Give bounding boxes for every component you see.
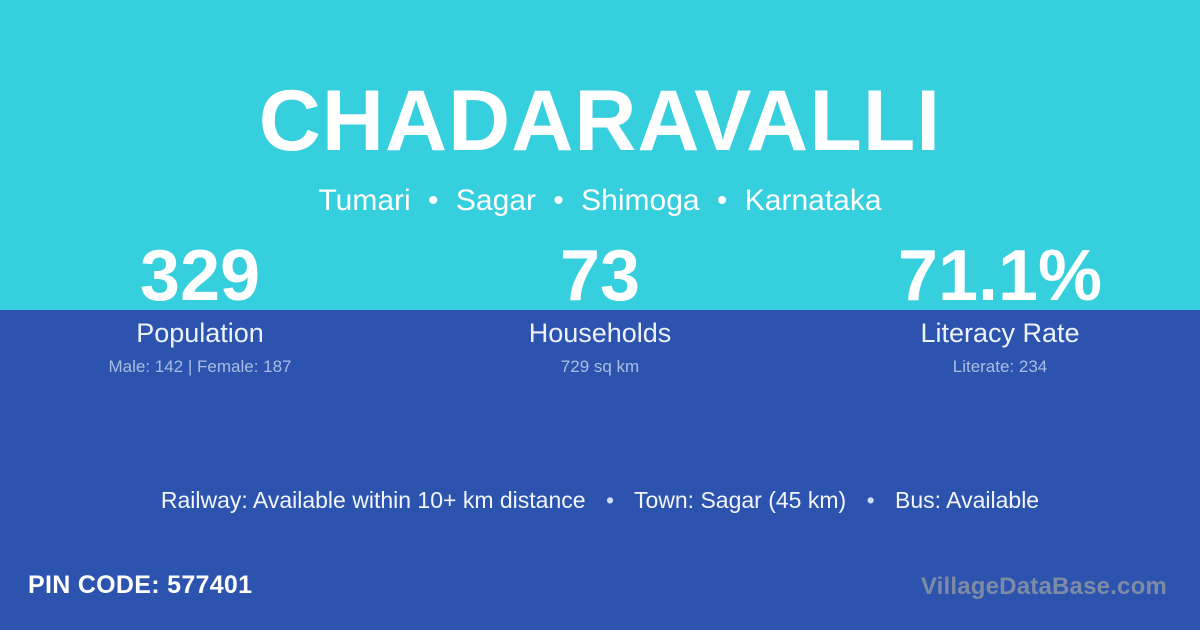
page-title: CHADARAVALLI [0, 0, 1200, 164]
stats-row: 329 Population Male: 142 | Female: 187 7… [0, 240, 1200, 377]
stat-sublabel: 729 sq km [400, 357, 800, 377]
amenity-bus: Bus: Available [895, 487, 1039, 513]
stat-label: Households [400, 318, 800, 348]
breadcrumb-separator: • [544, 186, 573, 216]
site-watermark: VillageDataBase.com [921, 572, 1167, 602]
stat-value: 73 [400, 240, 800, 312]
stat-value: 71.1% [800, 240, 1200, 312]
breadcrumb-separator: • [419, 186, 448, 216]
stat-label: Population [0, 318, 400, 348]
breadcrumb-item-state: Karnataka [745, 184, 882, 217]
stat-label: Literacy Rate [800, 318, 1200, 348]
breadcrumb: Tumari • Sagar • Shimoga • Karnataka [0, 164, 1200, 216]
footer: PIN CODE: 577401 VillageDataBase.com [0, 558, 1200, 630]
stat-households: 73 Households 729 sq km [400, 240, 800, 377]
village-info-card: CHADARAVALLI Tumari • Sagar • Shimoga • … [0, 0, 1200, 630]
breadcrumb-separator: • [708, 186, 737, 216]
amenity-separator: • [592, 485, 628, 515]
stat-literacy-rate: 71.1% Literacy Rate Literate: 234 [800, 240, 1200, 377]
breadcrumb-item-taluk: Sagar [456, 184, 536, 217]
amenity-separator: • [853, 485, 889, 515]
stat-value: 329 [0, 240, 400, 312]
amenities-line: Railway: Available within 10+ km distanc… [0, 485, 1200, 515]
header: CHADARAVALLI Tumari • Sagar • Shimoga • … [0, 0, 1200, 216]
breadcrumb-item-district: Shimoga [581, 184, 699, 217]
stat-sublabel: Literate: 234 [800, 357, 1200, 377]
breadcrumb-item-village: Tumari [318, 184, 410, 217]
pin-code: PIN CODE: 577401 [28, 570, 252, 600]
amenity-town: Town: Sagar (45 km) [634, 487, 846, 513]
stat-sublabel: Male: 142 | Female: 187 [0, 357, 400, 377]
stat-population: 329 Population Male: 142 | Female: 187 [0, 240, 400, 377]
amenity-railway: Railway: Available within 10+ km distanc… [161, 487, 586, 513]
